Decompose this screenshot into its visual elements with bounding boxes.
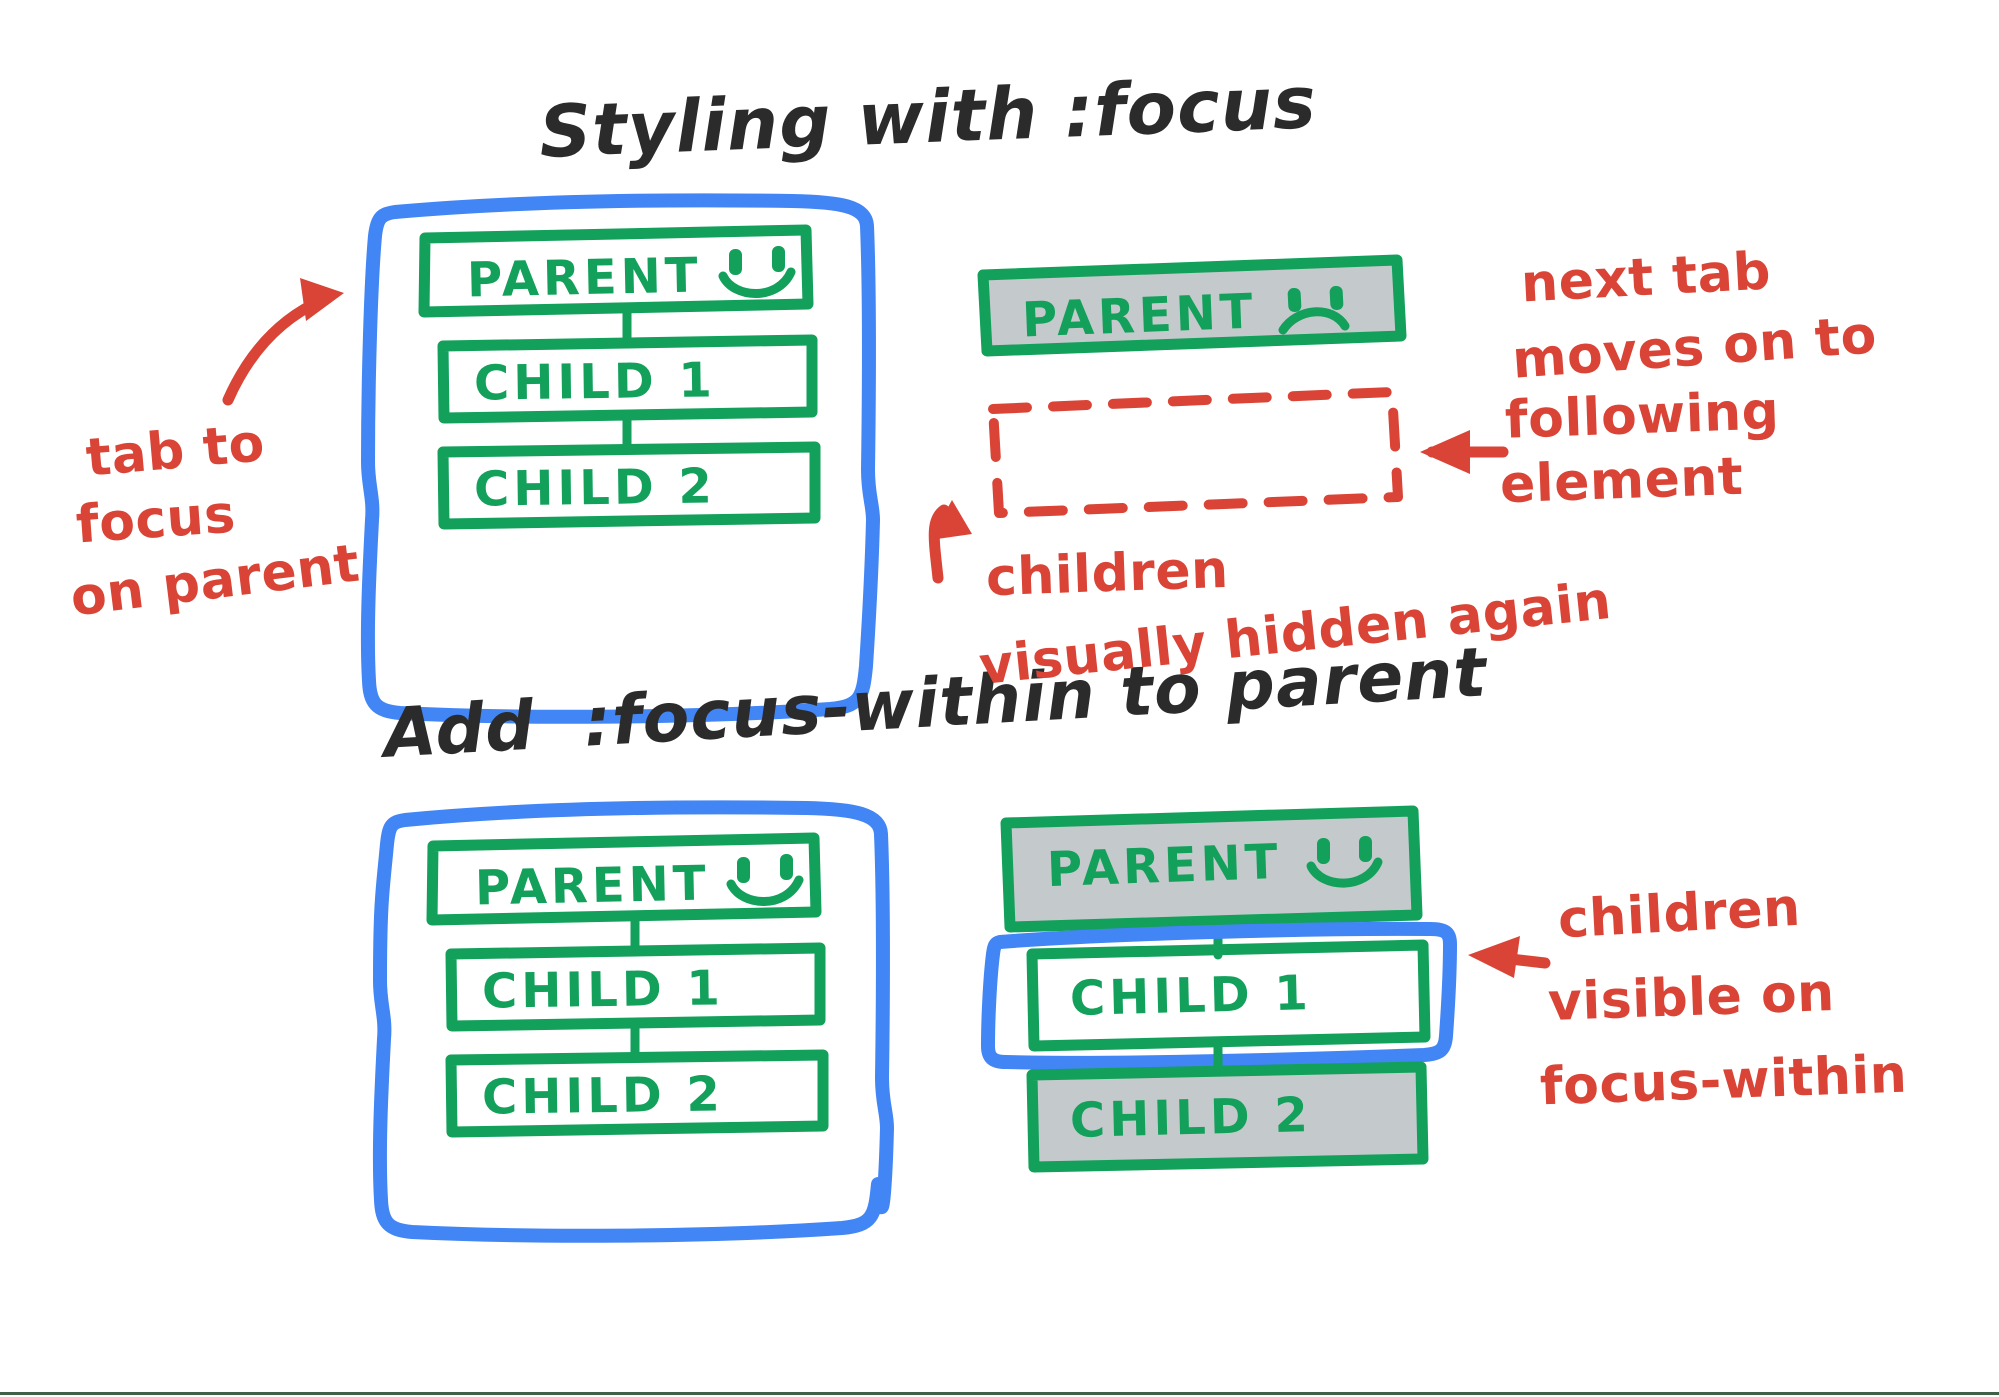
annotation-next-tab-line-1: next tab (1520, 245, 1772, 312)
parent-label-top-left: PARENT (466, 248, 702, 309)
parent-label-bottom-left: PARENT (474, 856, 710, 917)
annotation-children-visible-line-3: focus-within (1539, 1049, 1908, 1115)
child1-label-bottom-right: CHILD 1 (1069, 965, 1312, 1027)
annotation-children-visible-line-2: visible on (1547, 967, 1835, 1031)
smile-face-icon-bottom-left (731, 854, 799, 902)
annotation-children-hidden-line-1: children (985, 544, 1229, 606)
hook-arrow-up-icon (930, 500, 972, 578)
arrow-left-icon-hidden-children (1420, 430, 1503, 474)
parent-label-top-right: PARENT (1021, 284, 1258, 349)
annotation-children-visible-line-1: children (1557, 882, 1802, 948)
child2-label-bottom-right: CHILD 2 (1069, 1087, 1312, 1149)
arrow-left-icon-children-visible (1468, 936, 1545, 978)
child1-label-bottom-left: CHILD 1 (482, 960, 725, 1019)
bottom-rule (0, 1392, 1999, 1395)
child2-label-top-left: CHILD 2 (474, 458, 717, 517)
child1-label-top-left: CHILD 1 (474, 352, 717, 411)
parent-label-bottom-right: PARENT (1046, 834, 1282, 898)
annotation-next-tab-line-3: following (1504, 385, 1780, 448)
curved-arrow-up-right-icon (228, 278, 344, 400)
hidden-children-dashed-box (993, 392, 1398, 513)
child2-label-bottom-left: CHILD 2 (482, 1066, 725, 1125)
annotation-next-tab-line-4: element (1499, 451, 1744, 513)
smile-face-icon-top-left (723, 246, 791, 294)
annotation-tab-to-focus-line-2: focus (74, 488, 237, 553)
